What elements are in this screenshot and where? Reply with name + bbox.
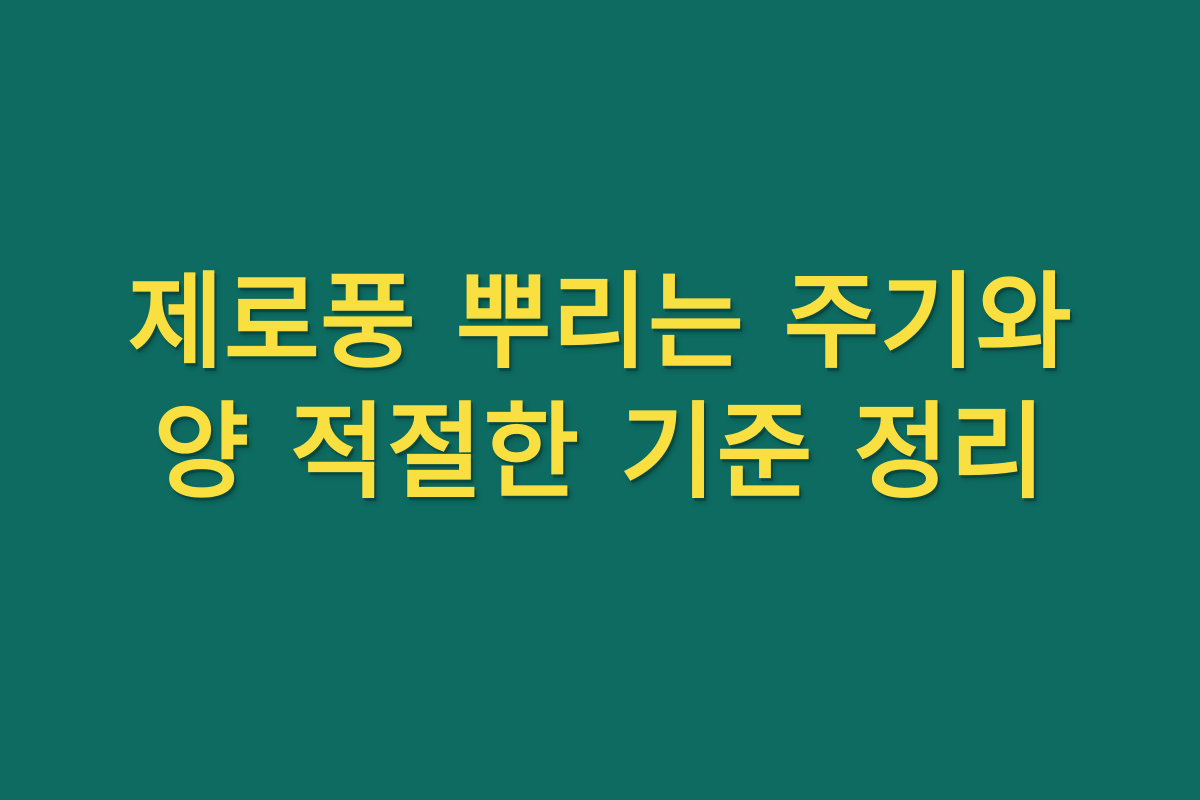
headline-line-1: 제로풍 뿌리는 주기와 — [40, 258, 1160, 388]
headline-banner: 제로풍 뿌리는 주기와 양 적절한 기준 정리 — [0, 0, 1200, 800]
headline-text-block: 제로풍 뿌리는 주기와 양 적절한 기준 정리 — [0, 258, 1200, 518]
headline-line-2: 양 적절한 기준 정리 — [40, 388, 1160, 518]
